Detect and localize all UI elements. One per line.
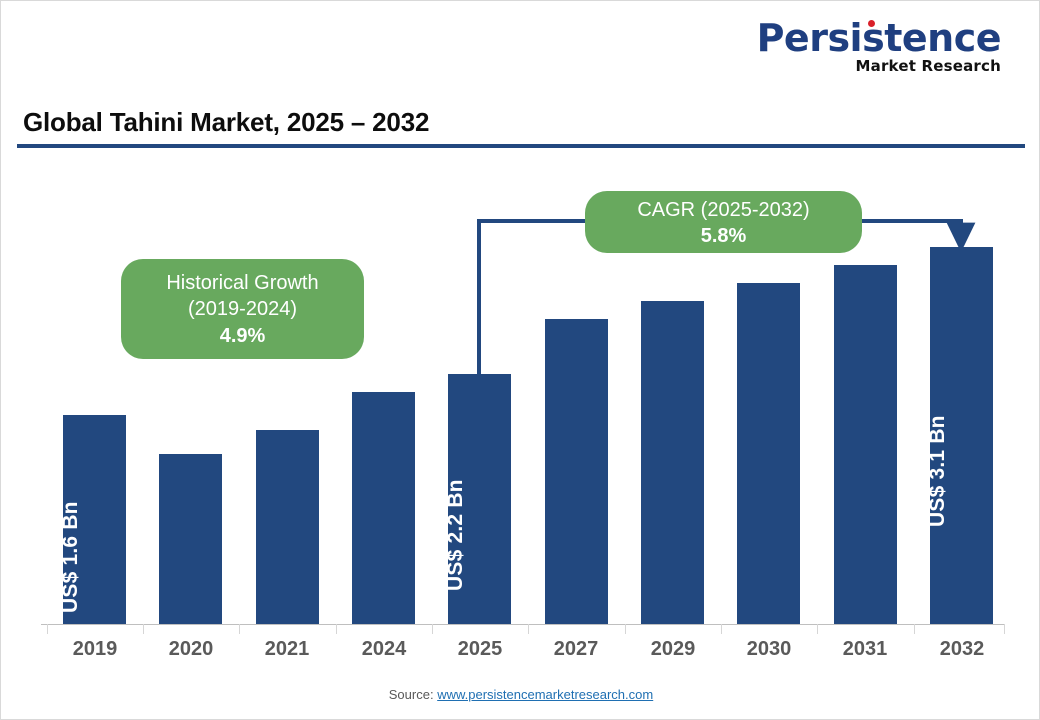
infographic-canvas: Persistence Market Research Global Tahin… — [0, 0, 1040, 720]
axis-tick — [625, 624, 626, 634]
cagr-title: CAGR (2025-2032) — [585, 197, 862, 223]
axis-tick — [336, 624, 337, 634]
x-axis-label-2030: 2030 — [721, 638, 817, 661]
bar-2021[interactable] — [256, 430, 319, 624]
axis-tick — [721, 624, 722, 634]
bar-2020[interactable] — [159, 454, 222, 624]
historical-growth-title: Historical Growth — [121, 270, 364, 296]
bar-value-label-2032: US$ 3.1 Bn — [926, 415, 950, 527]
bar-value-label-2025: US$ 2.2 Bn — [444, 479, 468, 591]
bar-2030[interactable] — [737, 283, 800, 624]
historical-growth-period: (2019-2024) — [121, 296, 364, 322]
historical-growth-value: 4.9% — [121, 323, 364, 349]
axis-tick — [47, 624, 48, 634]
cagr-callout: CAGR (2025-2032) 5.8% — [585, 191, 862, 253]
bar-value-label-2019: US$ 1.6 Bn — [59, 501, 83, 613]
bar-chart-plot: US$ 1.6 Bn US$ 2.2 Bn US$ 3.1 Bn 2019 20… — [1, 1, 1040, 720]
axis-tick — [914, 624, 915, 634]
x-axis-label-2032: 2032 — [914, 638, 1010, 661]
x-axis-label-2020: 2020 — [143, 638, 239, 661]
source-url-link[interactable]: www.persistencemarketresearch.com — [437, 687, 653, 702]
axis-tick — [143, 624, 144, 634]
x-axis-label-2019: 2019 — [47, 638, 143, 661]
x-axis-label-2025: 2025 — [432, 638, 528, 661]
axis-tick — [432, 624, 433, 634]
x-axis-label-2027: 2027 — [528, 638, 624, 661]
x-axis-line — [41, 624, 1005, 625]
bar-2024[interactable] — [352, 392, 415, 624]
bar-2029[interactable] — [641, 301, 704, 624]
source-line: Source: www.persistencemarketresearch.co… — [1, 687, 1040, 702]
bar-2031[interactable] — [834, 265, 897, 624]
x-axis-label-2029: 2029 — [625, 638, 721, 661]
axis-tick — [239, 624, 240, 634]
x-axis-label-2031: 2031 — [817, 638, 913, 661]
axis-tick — [528, 624, 529, 634]
x-axis-label-2021: 2021 — [239, 638, 335, 661]
cagr-value: 5.8% — [585, 223, 862, 249]
axis-tick — [1004, 624, 1005, 634]
historical-growth-callout: Historical Growth (2019-2024) 4.9% — [121, 259, 364, 359]
bar-2027[interactable] — [545, 319, 608, 624]
x-axis-label-2024: 2024 — [336, 638, 432, 661]
axis-tick — [817, 624, 818, 634]
source-prefix: Source: — [389, 687, 437, 702]
